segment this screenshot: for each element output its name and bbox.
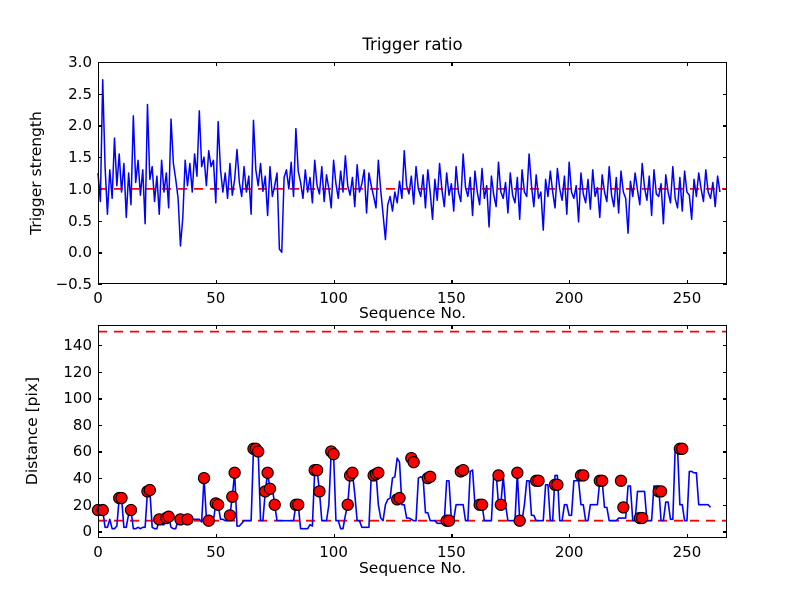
x-tick-mark xyxy=(98,280,99,284)
y-tick-mark xyxy=(98,531,102,532)
y-axis-label-bottom: Distance [pix] xyxy=(23,377,41,485)
y-tick-mark xyxy=(98,478,102,479)
x-tick-mark xyxy=(451,280,452,284)
x-tick-mark xyxy=(687,534,688,538)
y-tick-label: 40 xyxy=(73,469,92,487)
x-axis-label-bottom: Sequence No. xyxy=(98,559,727,577)
y-tick-label: 3.0 xyxy=(68,53,92,71)
y-tick-mark xyxy=(723,125,727,126)
x-tick-mark xyxy=(569,325,570,329)
y-tick-mark xyxy=(723,62,727,63)
y-tick-mark xyxy=(98,284,102,285)
y-tick-mark xyxy=(723,478,727,479)
y-tick-label: 80 xyxy=(73,416,92,434)
x-tick-mark xyxy=(216,534,217,538)
axes-frame-bottom xyxy=(98,325,727,538)
x-tick-mark xyxy=(334,534,335,538)
x-axis-label-top: Sequence No. xyxy=(98,304,727,322)
x-tick-mark xyxy=(687,62,688,66)
y-tick-mark xyxy=(98,125,102,126)
x-tick-mark xyxy=(451,534,452,538)
y-tick-label: 120 xyxy=(63,363,92,381)
y-tick-mark xyxy=(723,345,727,346)
y-tick-mark xyxy=(98,94,102,95)
y-tick-label: 60 xyxy=(73,442,92,460)
y-tick-mark xyxy=(723,505,727,506)
y-tick-mark xyxy=(98,398,102,399)
y-tick-label: −0.5 xyxy=(56,275,92,293)
y-tick-mark xyxy=(98,157,102,158)
y-tick-mark xyxy=(723,189,727,190)
y-tick-mark xyxy=(723,94,727,95)
y-tick-label: 1.0 xyxy=(68,180,92,198)
y-tick-label: 0 xyxy=(82,522,92,540)
chart-title: Trigger ratio xyxy=(98,35,727,54)
x-tick-mark xyxy=(98,325,99,329)
x-tick-mark xyxy=(98,62,99,66)
x-tick-mark xyxy=(334,325,335,329)
axes-frame-top xyxy=(98,62,727,284)
x-tick-mark xyxy=(569,280,570,284)
x-tick-mark xyxy=(334,280,335,284)
x-tick-mark xyxy=(687,325,688,329)
y-tick-mark xyxy=(98,451,102,452)
y-tick-mark xyxy=(723,252,727,253)
trigger-ratio-panel: Trigger ratio Trigger strength −0.50.00.… xyxy=(98,62,727,284)
y-tick-label: 0.0 xyxy=(68,243,92,261)
x-tick-mark xyxy=(687,280,688,284)
y-tick-mark xyxy=(723,425,727,426)
distance-panel: Distance [pix] 0204060801001201400501001… xyxy=(98,325,727,538)
x-tick-mark xyxy=(569,62,570,66)
x-tick-mark xyxy=(216,325,217,329)
y-tick-label: 20 xyxy=(73,496,92,514)
x-tick-mark xyxy=(216,280,217,284)
x-tick-mark xyxy=(98,534,99,538)
y-tick-mark xyxy=(723,398,727,399)
y-tick-mark xyxy=(98,345,102,346)
y-tick-mark xyxy=(723,284,727,285)
y-tick-label: 140 xyxy=(63,336,92,354)
y-tick-mark xyxy=(98,425,102,426)
x-tick-mark xyxy=(451,62,452,66)
x-tick-mark xyxy=(216,62,217,66)
y-tick-mark xyxy=(723,531,727,532)
y-tick-mark xyxy=(723,221,727,222)
x-tick-mark xyxy=(569,534,570,538)
y-tick-mark xyxy=(98,372,102,373)
y-tick-label: 0.5 xyxy=(68,212,92,230)
x-tick-mark xyxy=(334,62,335,66)
y-tick-label: 1.5 xyxy=(68,148,92,166)
y-tick-mark xyxy=(98,189,102,190)
y-tick-label: 2.0 xyxy=(68,116,92,134)
y-axis-label-top: Trigger strength xyxy=(27,111,45,235)
y-tick-label: 100 xyxy=(63,389,92,407)
y-tick-mark xyxy=(98,252,102,253)
y-tick-mark xyxy=(98,221,102,222)
y-tick-mark xyxy=(723,372,727,373)
x-tick-mark xyxy=(451,325,452,329)
matplotlib-figure: Trigger ratio Trigger strength −0.50.00.… xyxy=(0,0,800,600)
y-tick-mark xyxy=(98,505,102,506)
y-tick-mark xyxy=(723,451,727,452)
y-tick-label: 2.5 xyxy=(68,85,92,103)
y-tick-mark xyxy=(723,157,727,158)
